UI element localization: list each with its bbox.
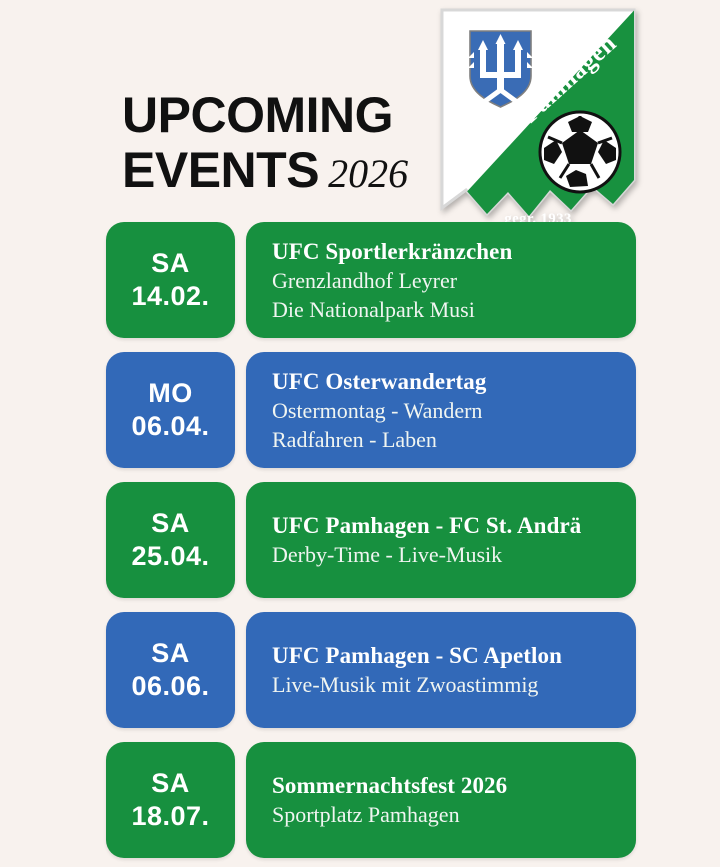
event-date: 18.07. — [131, 799, 209, 833]
event-subtitle-2: Radfahren - Laben — [272, 425, 636, 454]
event-title: UFC Pamhagen - FC St. Andrä — [272, 511, 636, 540]
event-weekday: SA — [151, 637, 190, 669]
title-line-events: EVENTS 2026 — [122, 142, 452, 198]
event-title: UFC Pamhagen - SC Apetlon — [272, 641, 636, 670]
event-subtitle-1: Derby-Time - Live-Musik — [272, 540, 636, 569]
event-title: UFC Osterwandertag — [272, 367, 636, 396]
event-weekday: MO — [148, 377, 193, 409]
club-logo: UFC Pamhagen gegr. 1933 — [436, 4, 640, 236]
club-crest-graphic: UFC Pamhagen gegr. 1933 — [436, 4, 640, 236]
event-info-box: UFC Sportlerkränzchen Grenzlandhof Leyre… — [246, 222, 636, 338]
event-title: UFC Sportlerkränzchen — [272, 237, 636, 266]
poster-canvas: UPCOMING EVENTS 2026 — [0, 0, 720, 867]
event-title: Sommernachtsfest 2026 — [272, 771, 636, 800]
event-date-box: SA 18.07. — [106, 742, 235, 858]
soccer-ball-icon — [540, 112, 620, 192]
event-subtitle-1: Grenzlandhof Leyrer — [272, 266, 636, 295]
event-weekday: SA — [151, 247, 190, 279]
event-row[interactable]: SA 14.02. UFC Sportlerkränzchen Grenzlan… — [106, 222, 636, 338]
page-title: UPCOMING EVENTS 2026 — [122, 88, 452, 198]
event-date: 06.04. — [131, 409, 209, 443]
title-year: 2026 — [328, 151, 408, 197]
event-weekday: SA — [151, 767, 190, 799]
event-row[interactable]: MO 06.04. UFC Osterwandertag Ostermontag… — [106, 352, 636, 468]
event-row[interactable]: SA 06.06. UFC Pamhagen - SC Apetlon Live… — [106, 612, 636, 728]
event-date-box: MO 06.04. — [106, 352, 235, 468]
event-row[interactable]: SA 18.07. Sommernachtsfest 2026 Sportpla… — [106, 742, 636, 858]
event-info-box: UFC Osterwandertag Ostermontag - Wandern… — [246, 352, 636, 468]
event-info-box: UFC Pamhagen - SC Apetlon Live-Musik mit… — [246, 612, 636, 728]
title-line-upcoming: UPCOMING — [122, 88, 452, 142]
event-date: 14.02. — [131, 279, 209, 313]
event-row[interactable]: SA 25.04. UFC Pamhagen - FC St. Andrä De… — [106, 482, 636, 598]
event-weekday: SA — [151, 507, 190, 539]
event-subtitle-1: Sportplatz Pamhagen — [272, 800, 636, 829]
event-date-box: SA 06.06. — [106, 612, 235, 728]
events-list: SA 14.02. UFC Sportlerkränzchen Grenzlan… — [106, 222, 636, 858]
event-subtitle-2: Die Nationalpark Musi — [272, 295, 636, 324]
event-date: 25.04. — [131, 539, 209, 573]
event-date-box: SA 14.02. — [106, 222, 235, 338]
title-word-events: EVENTS — [122, 142, 319, 198]
event-subtitle-1: Ostermontag - Wandern — [272, 396, 636, 425]
event-info-box: UFC Pamhagen - FC St. Andrä Derby-Time -… — [246, 482, 636, 598]
event-info-box: Sommernachtsfest 2026 Sportplatz Pamhage… — [246, 742, 636, 858]
event-date-box: SA 25.04. — [106, 482, 235, 598]
event-subtitle-1: Live-Musik mit Zwoastimmig — [272, 670, 636, 699]
event-date: 06.06. — [131, 669, 209, 703]
